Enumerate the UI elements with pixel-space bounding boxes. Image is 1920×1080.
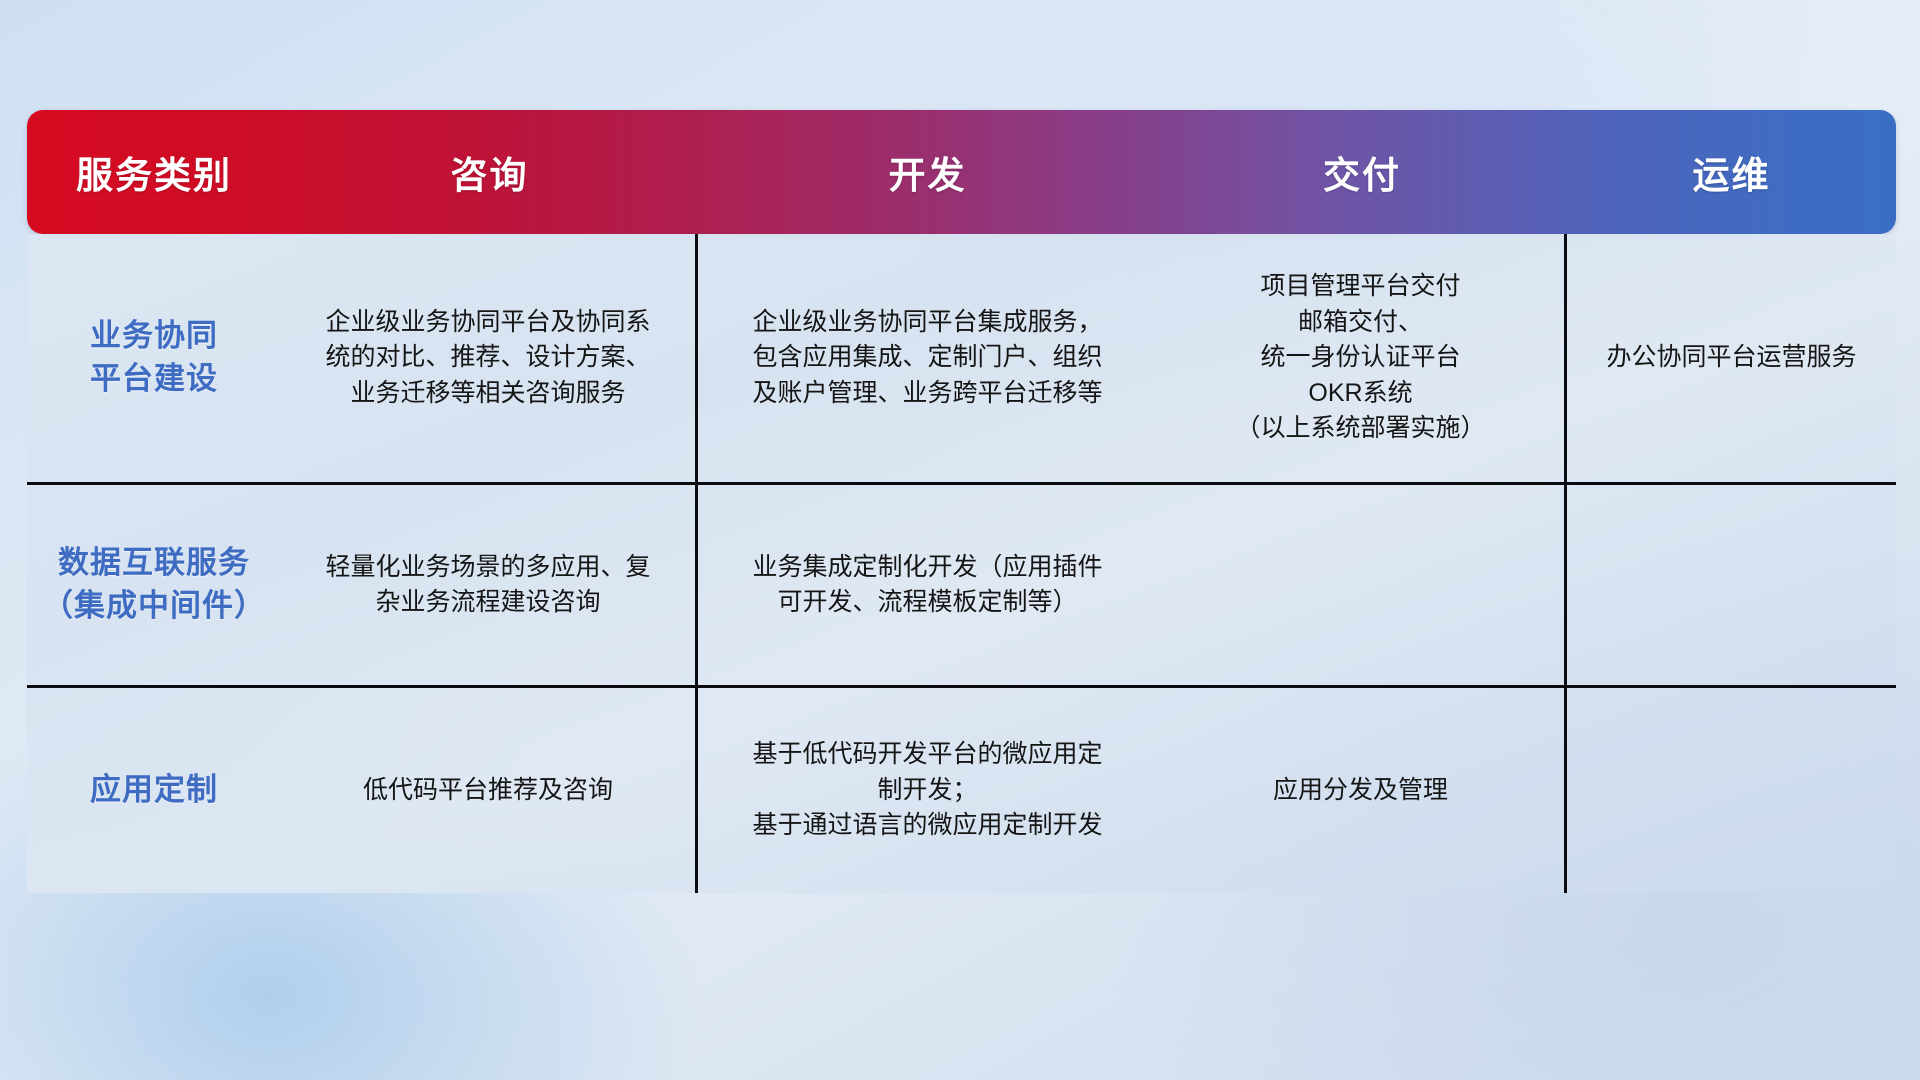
slide-canvas: 服务类别 咨询 开发 交付 运维 业务协同 平台建设 企业级业务协同平台及协 <box>0 0 1920 1080</box>
table-header-label: 开发 <box>889 145 967 199</box>
table-row-header-cell: 业务协同 平台建设 <box>27 234 281 482</box>
table-row-label: 应用定制 <box>90 769 218 812</box>
table-header-cell-consulting: 咨询 <box>281 110 698 234</box>
table-cell-consulting: 轻量化业务场景的多应用、复 杂业务流程建设咨询 <box>281 485 698 685</box>
table-cell-delivery: 应用分发及管理 <box>1157 688 1567 893</box>
table-cell-development: 企业级业务协同平台集成服务， 包含应用集成、定制门户、组织 及账户管理、业务跨平… <box>698 234 1157 482</box>
table-header-cell-service-category: 服务类别 <box>27 110 281 234</box>
table-cell-development: 基于低代码开发平台的微应用定 制开发； 基于通过语言的微应用定制开发 <box>698 688 1157 893</box>
table-row-header-cell: 数据互联服务 （集成中间件） <box>27 485 281 685</box>
table-cell-operations: 办公协同平台运营服务 <box>1567 234 1896 482</box>
table-row-header-cell: 应用定制 <box>27 688 281 893</box>
table-row-label: 业务协同 平台建设 <box>90 315 218 401</box>
table-header-cell-delivery: 交付 <box>1157 110 1567 234</box>
table-cell-consulting: 企业级业务协同平台及协同系 统的对比、推荐、设计方案、 业务迁移等相关咨询服务 <box>281 234 698 482</box>
table-header-label: 交付 <box>1323 145 1401 199</box>
table-header-row: 服务类别 咨询 开发 交付 运维 <box>27 110 1896 234</box>
table-header-cell-operations: 运维 <box>1567 110 1896 234</box>
table-row: 应用定制 低代码平台推荐及咨询 基于低代码开发平台的微应用定 制开发； 基于通过… <box>27 685 1896 893</box>
table-row-label: 数据互联服务 （集成中间件） <box>42 542 266 628</box>
table-header-label: 服务类别 <box>76 145 232 199</box>
service-matrix-table: 服务类别 咨询 开发 交付 运维 业务协同 平台建设 企业级业务协同平台及协 <box>27 110 1896 963</box>
table-cell-consulting: 低代码平台推荐及咨询 <box>281 688 698 893</box>
table-cell-delivery <box>1157 485 1567 685</box>
table-header-label: 咨询 <box>451 145 529 199</box>
table-header-label: 运维 <box>1693 145 1771 199</box>
table-row: 数据互联服务 （集成中间件） 轻量化业务场景的多应用、复 杂业务流程建设咨询 业… <box>27 482 1896 685</box>
table-header-cell-development: 开发 <box>698 110 1157 234</box>
table-row: 业务协同 平台建设 企业级业务协同平台及协同系 统的对比、推荐、设计方案、 业务… <box>27 234 1896 482</box>
table-cell-delivery: 项目管理平台交付 邮箱交付、 统一身份认证平台 OKR系统 （以上系统部署实施） <box>1157 234 1567 482</box>
table-cell-operations <box>1567 485 1896 685</box>
table-cell-development: 业务集成定制化开发（应用插件 可开发、流程模板定制等） <box>698 485 1157 685</box>
table-body: 业务协同 平台建设 企业级业务协同平台及协同系 统的对比、推荐、设计方案、 业务… <box>27 234 1896 893</box>
table-cell-operations <box>1567 688 1896 893</box>
